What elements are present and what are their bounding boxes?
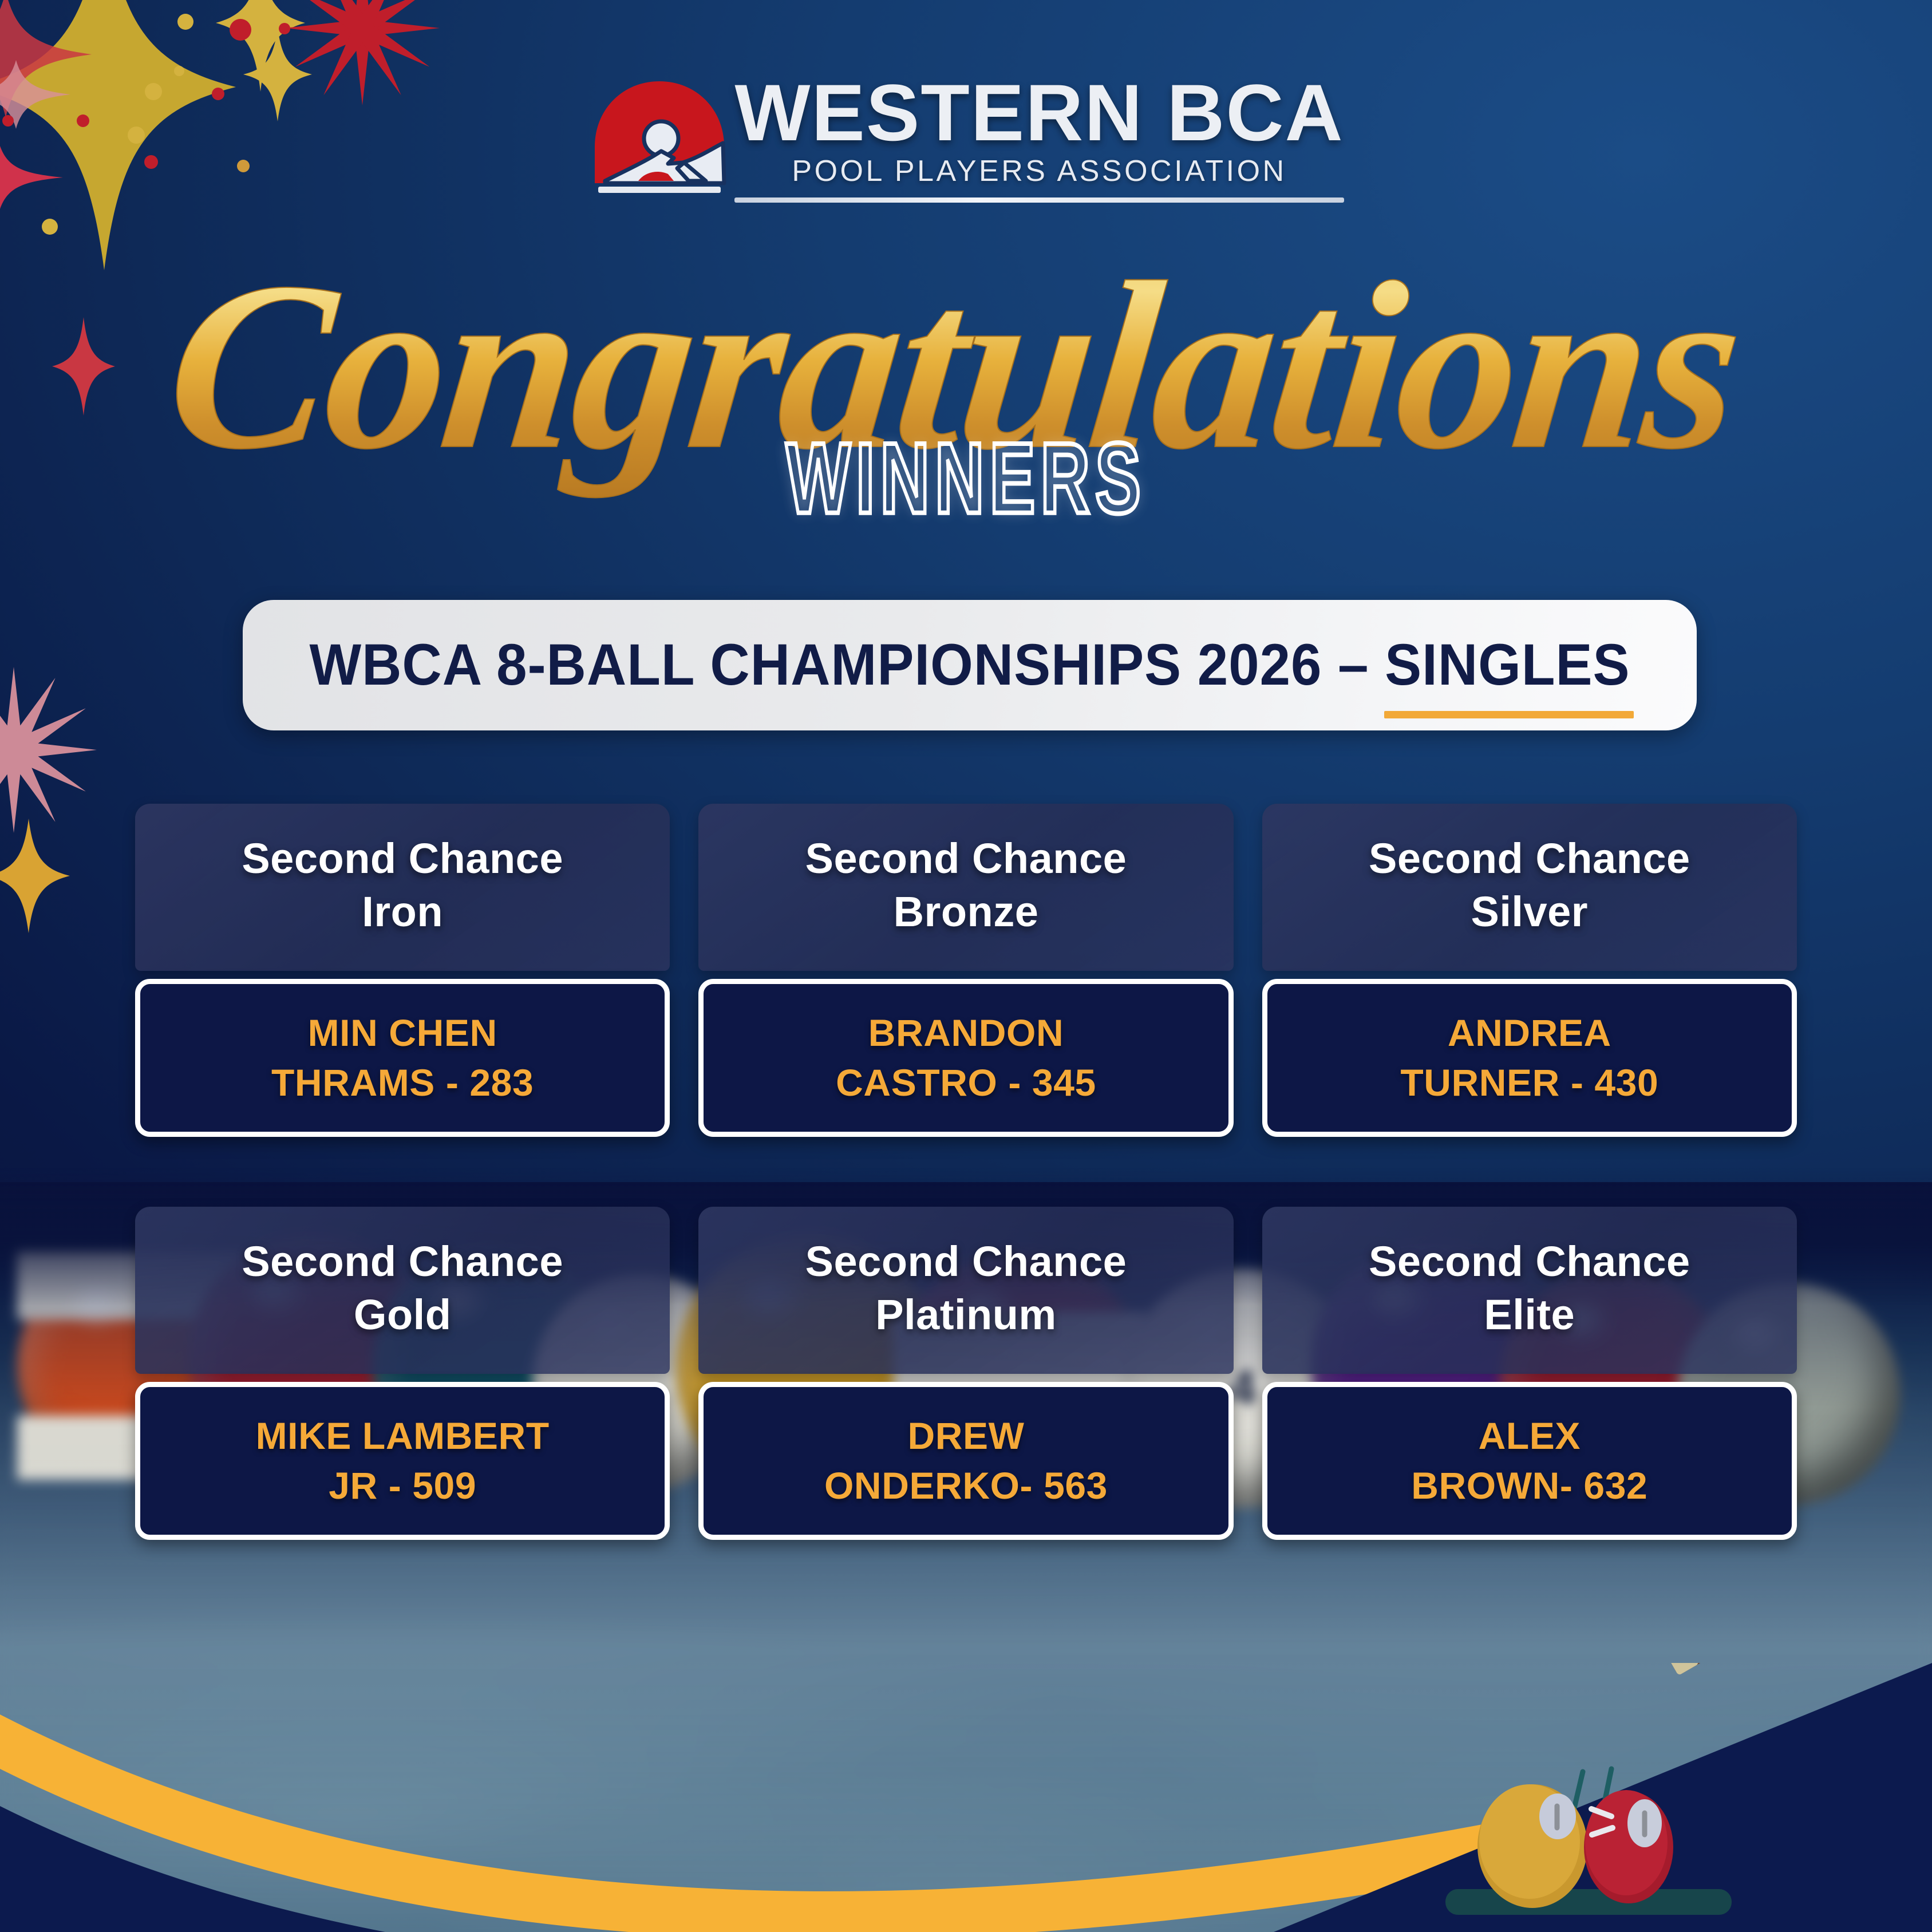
winner-card: Second Chance Elite ALEX BROWN- 632 bbox=[1262, 1207, 1797, 1540]
winner-name-line1: ANDREA bbox=[1448, 1008, 1611, 1058]
winner-card: Second Chance Iron MIN CHEN THRAMS - 283 bbox=[135, 804, 670, 1137]
confetti-dot-icon bbox=[177, 14, 193, 30]
winner-name-line2: TURNER - 430 bbox=[1400, 1058, 1658, 1108]
brand-logo: WESTERN BCA POOL PLAYERS ASSOCIATION bbox=[0, 73, 1932, 203]
page-title: WBCA 8-BALL CHAMPIONSHIPS 2026 – SINGLES bbox=[309, 632, 1630, 699]
brand-divider bbox=[734, 197, 1344, 203]
winner-name-line1: MIKE LAMBERT bbox=[256, 1411, 550, 1461]
winner-name-line1: ALEX bbox=[1479, 1411, 1581, 1461]
winner-name-box: DREW ONDERKO- 563 bbox=[698, 1382, 1233, 1540]
winner-name-box: MIN CHEN THRAMS - 283 bbox=[135, 979, 670, 1137]
winner-name-line1: BRANDON bbox=[868, 1008, 1064, 1058]
event-title-banner: WBCA 8-BALL CHAMPIONSHIPS 2026 – SINGLES bbox=[243, 600, 1697, 730]
division-header: Second Chance Platinum bbox=[698, 1207, 1233, 1374]
division-label-line2: Iron bbox=[362, 885, 443, 938]
winner-name-box: MIKE LAMBERT JR - 509 bbox=[135, 1382, 670, 1540]
winner-name-line2: CASTRO - 345 bbox=[836, 1058, 1096, 1108]
title-underline bbox=[1384, 711, 1634, 718]
division-header: Second Chance Iron bbox=[135, 804, 670, 971]
brand-tagline: POOL PLAYERS ASSOCIATION bbox=[734, 154, 1344, 188]
pool-player-silhouette-icon bbox=[588, 77, 731, 200]
winner-name-box: ALEX BROWN- 632 bbox=[1262, 1382, 1797, 1540]
table-rail-icon bbox=[1445, 1889, 1732, 1915]
division-label-line2: Bronze bbox=[894, 885, 1039, 938]
division-label-line2: Gold bbox=[354, 1288, 452, 1341]
division-label-line2: Silver bbox=[1471, 885, 1589, 938]
winner-card: Second Chance Bronze BRANDON CASTRO - 34… bbox=[698, 804, 1233, 1137]
division-label-line2: Platinum bbox=[875, 1288, 1056, 1341]
confetti-dot-icon bbox=[230, 19, 251, 41]
starburst-icon bbox=[0, 637, 127, 863]
winner-name-line1: MIN CHEN bbox=[308, 1008, 497, 1058]
winner-name-line2: THRAMS - 283 bbox=[271, 1058, 534, 1108]
division-label-line1: Second Chance bbox=[805, 1235, 1127, 1288]
winner-name-line1: DREW bbox=[907, 1411, 1024, 1461]
division-header: Second Chance Silver bbox=[1262, 804, 1797, 971]
division-header: Second Chance Gold bbox=[135, 1207, 670, 1374]
division-header: Second Chance Elite bbox=[1262, 1207, 1797, 1374]
winner-name-line2: JR - 509 bbox=[329, 1461, 476, 1511]
division-label-line2: Elite bbox=[1484, 1288, 1575, 1341]
winner-name-line2: BROWN- 632 bbox=[1411, 1461, 1647, 1511]
confetti-dot-icon bbox=[42, 219, 58, 235]
four-point-star-icon bbox=[0, 819, 70, 933]
winner-name-box: BRANDON CASTRO - 345 bbox=[698, 979, 1233, 1137]
division-label-line1: Second Chance bbox=[242, 1235, 563, 1288]
division-header: Second Chance Bronze bbox=[698, 804, 1233, 971]
division-label-line1: Second Chance bbox=[1369, 1235, 1690, 1288]
winners-headline: WINNERS bbox=[77, 420, 1855, 536]
winner-name-line2: ONDERKO- 563 bbox=[824, 1461, 1108, 1511]
division-label-line1: Second Chance bbox=[242, 832, 563, 885]
congratulations-poster: 4 bbox=[0, 0, 1932, 1932]
division-label-line1: Second Chance bbox=[805, 832, 1127, 885]
winner-name-box: ANDREA TURNER - 430 bbox=[1262, 979, 1797, 1137]
winners-grid: Second Chance Iron MIN CHEN THRAMS - 283… bbox=[135, 804, 1797, 1540]
winner-card: Second Chance Platinum DREW ONDERKO- 563 bbox=[698, 1207, 1233, 1540]
brand-name: WESTERN BCA bbox=[734, 73, 1344, 152]
winner-card: Second Chance Silver ANDREA TURNER - 430 bbox=[1262, 804, 1797, 1137]
division-label-line1: Second Chance bbox=[1369, 832, 1690, 885]
confetti-dot-icon bbox=[279, 23, 290, 34]
cue-and-balls-scene bbox=[1274, 1663, 1932, 1932]
pool-cue-icon bbox=[1669, 1663, 1932, 1676]
winner-card: Second Chance Gold MIKE LAMBERT JR - 509 bbox=[135, 1207, 670, 1540]
